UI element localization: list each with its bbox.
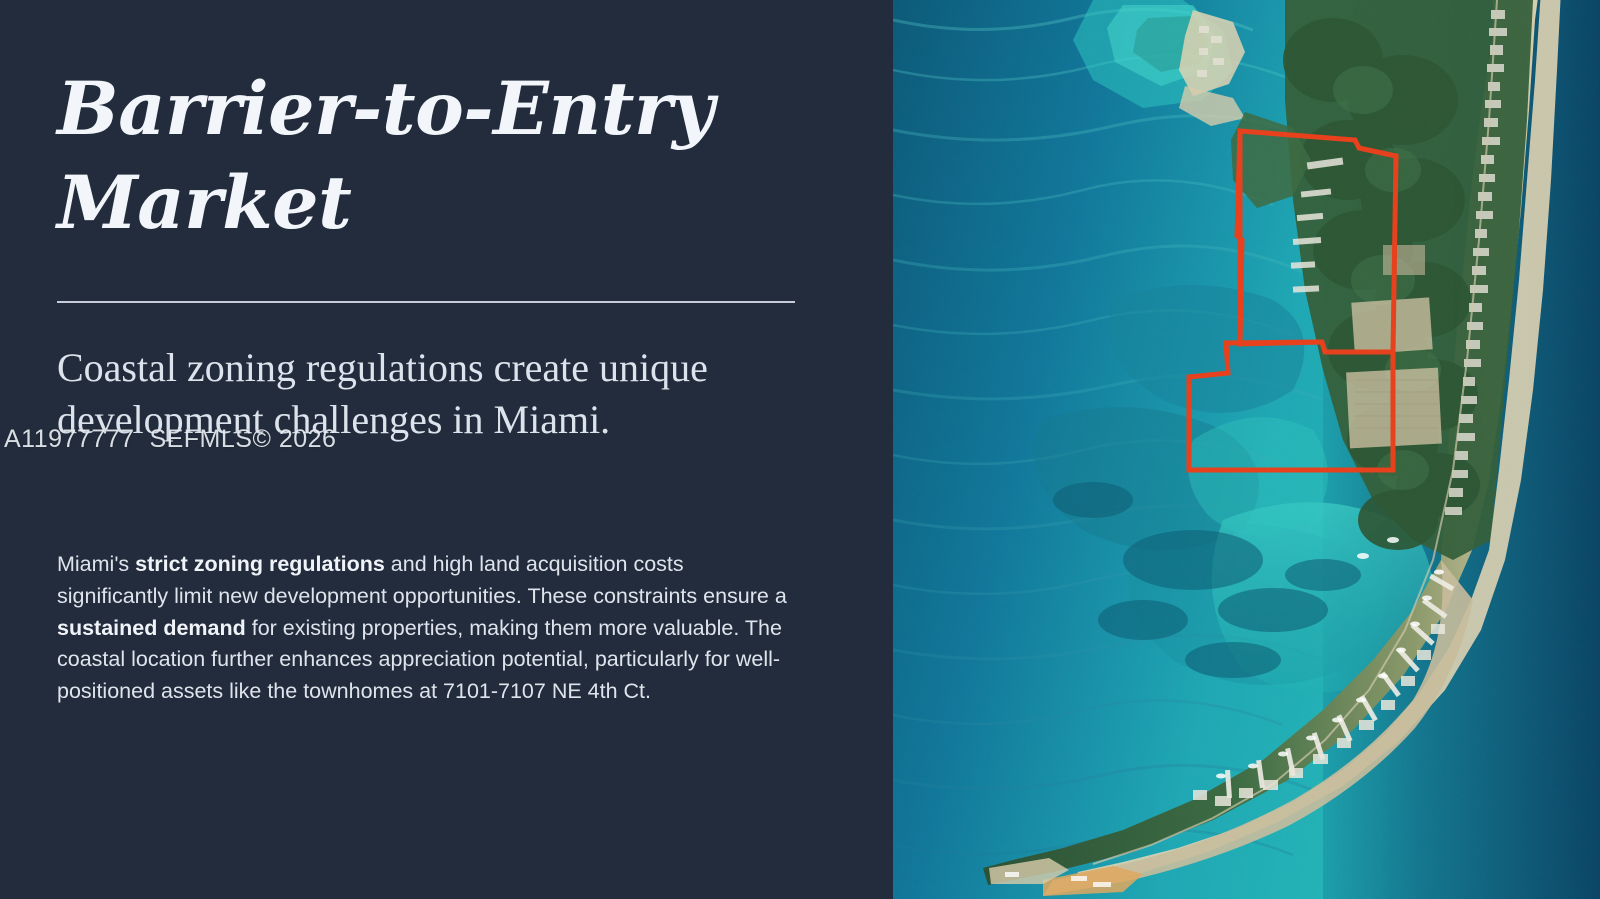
body-paragraph: Miami's strict zoning regulations and hi… bbox=[57, 549, 797, 708]
body-emphasis: strict zoning regulations bbox=[135, 552, 385, 576]
page-title: Barrier-to-Entry Market bbox=[57, 62, 847, 250]
title-divider bbox=[57, 301, 795, 303]
mls-watermark: A11977777 SEFMLS© 2026 bbox=[4, 425, 336, 454]
aerial-property-image bbox=[893, 0, 1600, 899]
body-text: Miami's bbox=[57, 552, 135, 576]
aerial-map-graphic bbox=[893, 0, 1600, 899]
body-emphasis: sustained demand bbox=[57, 616, 246, 640]
presentation-slide: Barrier-to-Entry Market Coastal zoning r… bbox=[0, 0, 1600, 899]
